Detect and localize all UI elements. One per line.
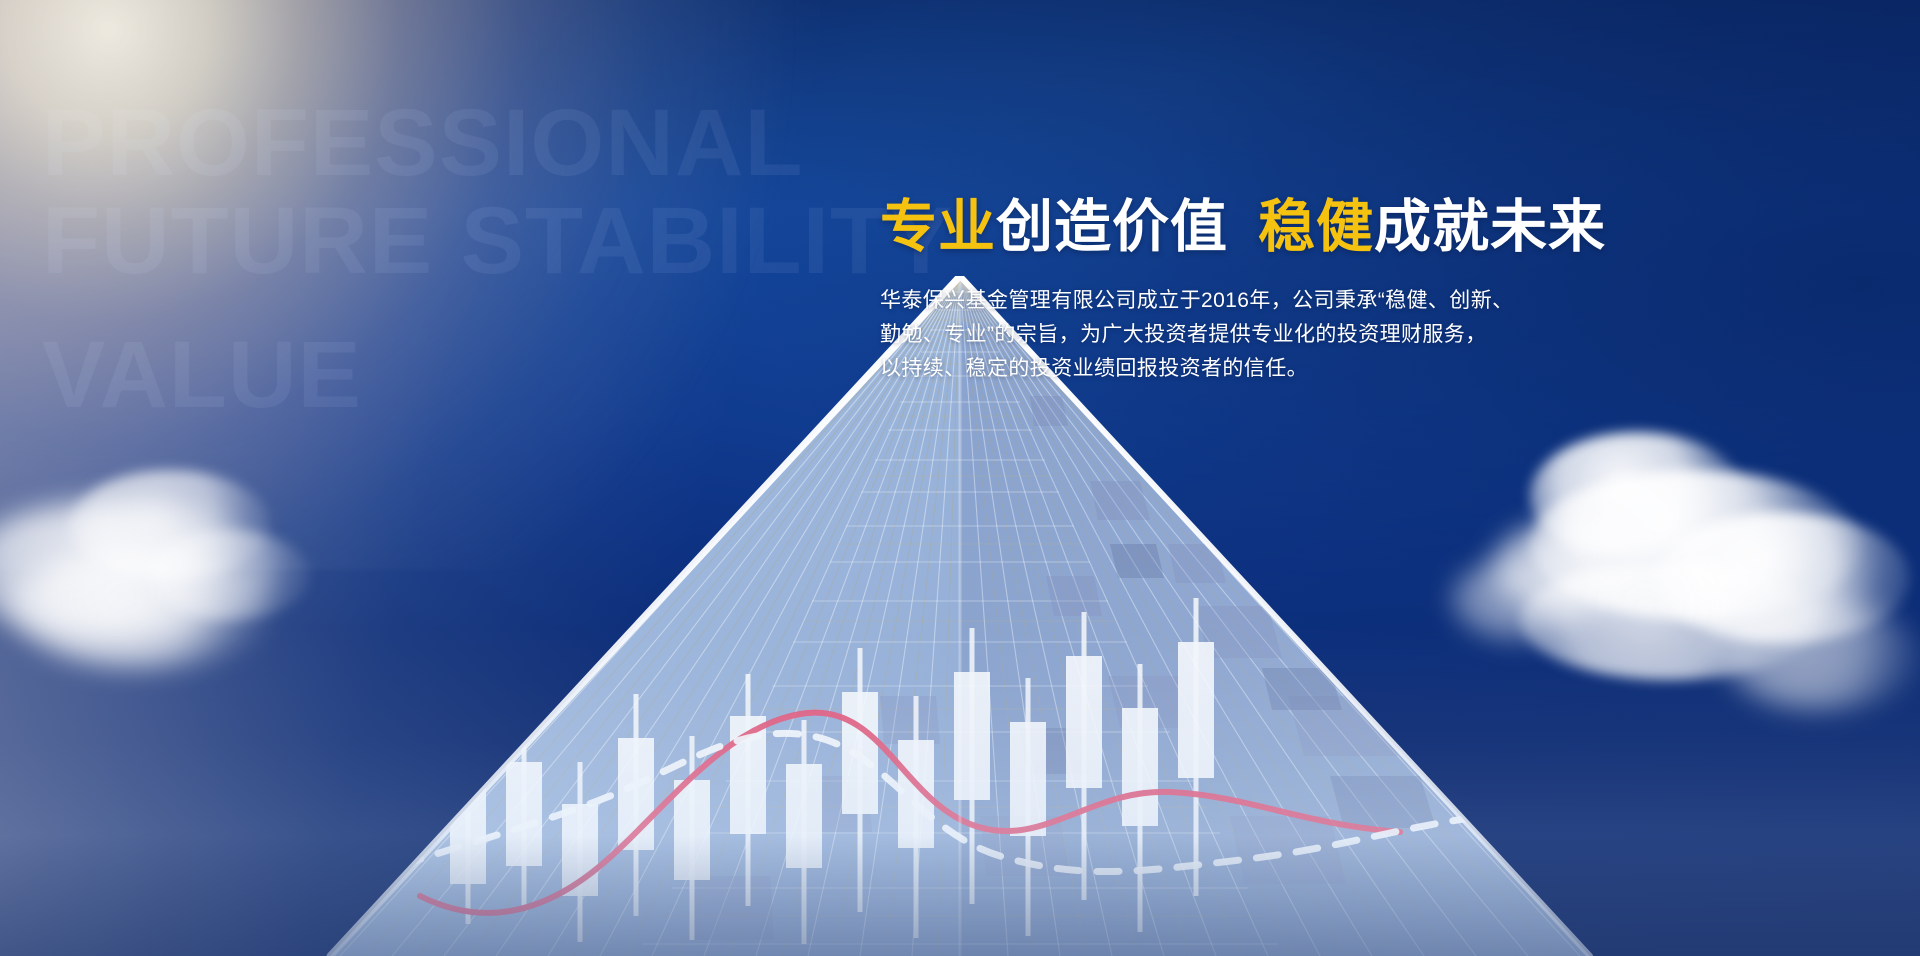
body-paragraph: 华泰保兴基金管理有限公司成立于2016年，公司秉承“稳健、创新、 勤勉、专业”的… — [880, 284, 1520, 386]
hero-banner: PROFESSIONAL FUTURE STABILITY VALUE PROF… — [0, 0, 1920, 956]
marketing-copy-block: 专业创造价值稳健成就未来 华泰保兴基金管理有限公司成立于2016年，公司秉承“稳… — [880, 198, 1890, 386]
headline-white-2: 成就未来 — [1374, 195, 1606, 259]
headline-white-1: 创造价值 — [996, 195, 1228, 259]
body-line-2: 勤勉、专业”的宗旨，为广大投资者提供专业化的投资理财服务， — [880, 318, 1520, 352]
headline: 专业创造价值稳健成就未来 — [880, 198, 1890, 258]
body-line-3: 以持续、稳定的投资业绩回报投资者的信任。 — [880, 352, 1520, 386]
body-line-1: 华泰保兴基金管理有限公司成立于2016年，公司秉承“稳健、创新、 — [880, 284, 1520, 318]
headline-accent-2: 稳健 — [1258, 195, 1374, 259]
headline-accent-1: 专业 — [880, 195, 996, 259]
